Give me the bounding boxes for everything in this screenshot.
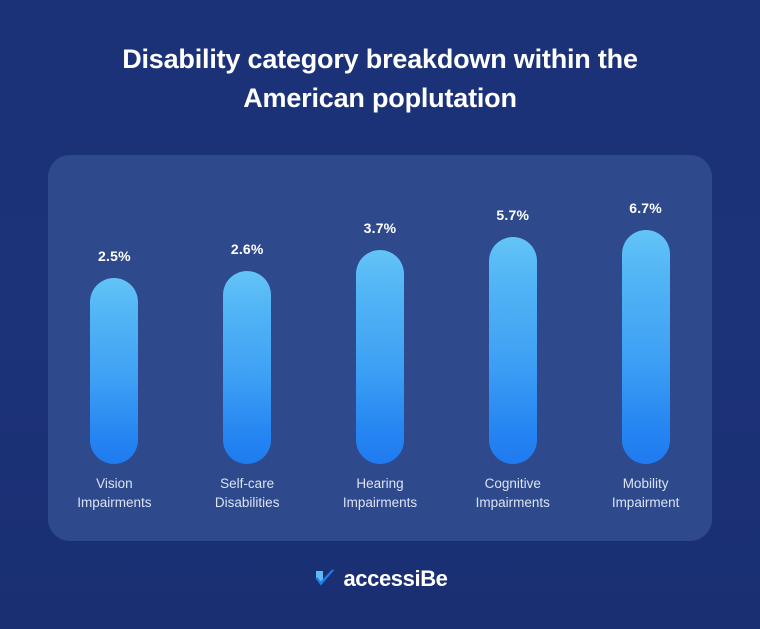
page-title: Disability category breakdown within the… (60, 40, 700, 118)
bar-category-label-line: Impairment (591, 494, 701, 513)
bar-value-label: 2.5% (59, 248, 169, 264)
chart-card: 2.5%VisionImpairments2.6%Self-careDisabi… (48, 155, 712, 541)
bar-category-label-line: Cognitive (458, 475, 568, 494)
brand-name: accessiBe (343, 566, 447, 592)
bar-group: 2.5%VisionImpairments (59, 155, 169, 541)
bar-category-label-line: Impairments (325, 494, 435, 513)
bar-category-label-line: Self-care (192, 475, 302, 494)
bar-category-label: CognitiveImpairments (458, 475, 568, 513)
bar-group: 3.7%HearingImpairments (325, 155, 435, 541)
bar (223, 271, 271, 464)
bar-category-label-line: Hearing (325, 475, 435, 494)
bar (622, 230, 670, 464)
bar-category-label-line: Impairments (458, 494, 568, 513)
bar-group: 6.7%MobilityImpairment (591, 155, 701, 541)
check-icon (312, 566, 338, 592)
bar-category-label: MobilityImpairment (591, 475, 701, 513)
bar-value-label: 3.7% (325, 220, 435, 236)
bar-chart-plot-area: 2.5%VisionImpairments2.6%Self-careDisabi… (48, 155, 712, 541)
bar-category-label-line: Disabilities (192, 494, 302, 513)
bar-group: 2.6%Self-careDisabilities (192, 155, 302, 541)
bar (489, 237, 537, 464)
title-block: Disability category breakdown within the… (60, 40, 700, 118)
bar-category-label-line: Impairments (59, 494, 169, 513)
bar (90, 278, 138, 464)
bar-group: 5.7%CognitiveImpairments (458, 155, 568, 541)
bar (356, 250, 404, 464)
bar-category-label: VisionImpairments (59, 475, 169, 513)
bar-category-label-line: Mobility (591, 475, 701, 494)
bar-value-label: 6.7% (591, 200, 701, 216)
infographic-canvas: Disability category breakdown within the… (0, 0, 760, 629)
bar-value-label: 5.7% (458, 207, 568, 223)
bar-category-label: Self-careDisabilities (192, 475, 302, 513)
bar-category-label: HearingImpairments (325, 475, 435, 513)
bar-value-label: 2.6% (192, 241, 302, 257)
bar-category-label-line: Vision (59, 475, 169, 494)
brand-logo: accessiBe (0, 566, 760, 592)
